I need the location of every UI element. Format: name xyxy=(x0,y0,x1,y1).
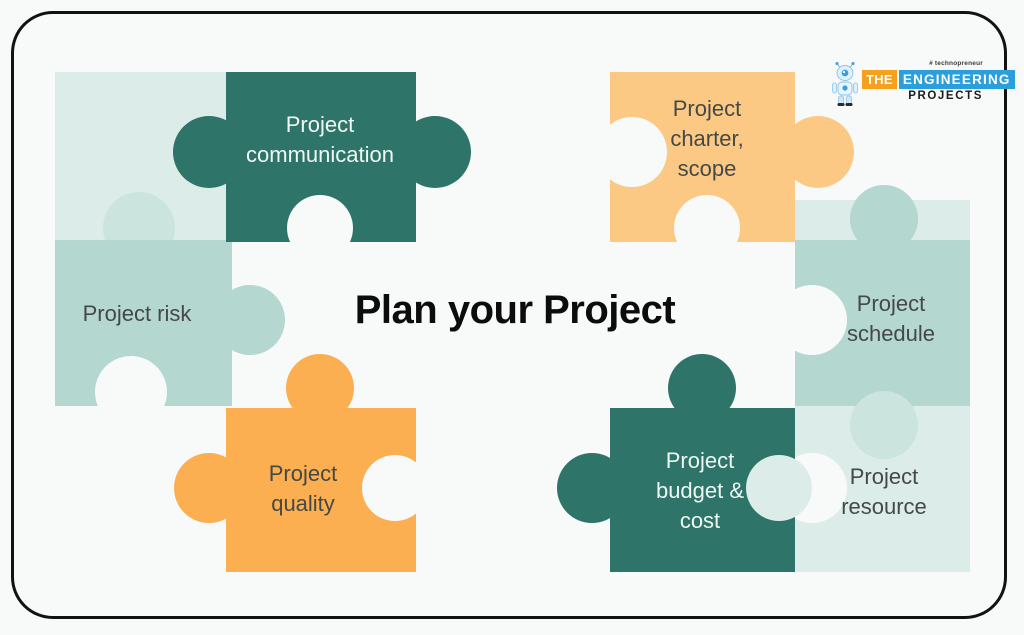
puzzle-label-project-risk: Project risk xyxy=(83,301,193,326)
puzzle-label-budget-line2: budget & xyxy=(656,478,744,503)
logo-wordmark: # technopreneur THE ENGINEERING PROJECTS xyxy=(862,60,984,108)
puzzle-label-schedule-line2: schedule xyxy=(847,321,935,346)
logo-title-row: THE ENGINEERING xyxy=(862,70,1015,89)
logo-tagline: # technopreneur xyxy=(929,60,983,67)
puzzle-label-charter-line1: Project xyxy=(673,96,741,121)
puzzle-label-schedule-line1: Project xyxy=(857,291,925,316)
puzzle-label-budget-line3: cost xyxy=(680,508,720,533)
puzzle-label-charter-line3: scope xyxy=(678,156,737,181)
slide-canvas: Project risk Project communication Proje… xyxy=(0,0,1024,635)
puzzle-label-resource-line2: resource xyxy=(841,494,927,519)
page-title: Plan your Project xyxy=(300,288,730,333)
puzzle-piece-project-budget-cost[interactable]: Project budget & cost xyxy=(557,354,812,572)
robot-mascot-icon xyxy=(832,62,858,106)
puzzle-label-quality-line1: Project xyxy=(269,461,337,486)
logo-word-the: THE xyxy=(862,70,897,89)
puzzle-label-charter-line2: charter, xyxy=(670,126,743,151)
brand-logo[interactable]: # technopreneur THE ENGINEERING PROJECTS xyxy=(832,60,984,110)
puzzle-piece-project-risk[interactable]: Project risk xyxy=(55,240,285,428)
logo-word-projects: PROJECTS xyxy=(908,90,983,102)
puzzle-label-quality-line2: quality xyxy=(271,491,335,516)
puzzle-label-resource-line1: Project xyxy=(850,464,918,489)
puzzle-label-communication-line2: communication xyxy=(246,142,394,167)
puzzle-label-budget-line1: Project xyxy=(666,448,734,473)
puzzle-label-communication-line1: Project xyxy=(286,112,354,137)
logo-word-engineering: ENGINEERING xyxy=(899,70,1015,89)
